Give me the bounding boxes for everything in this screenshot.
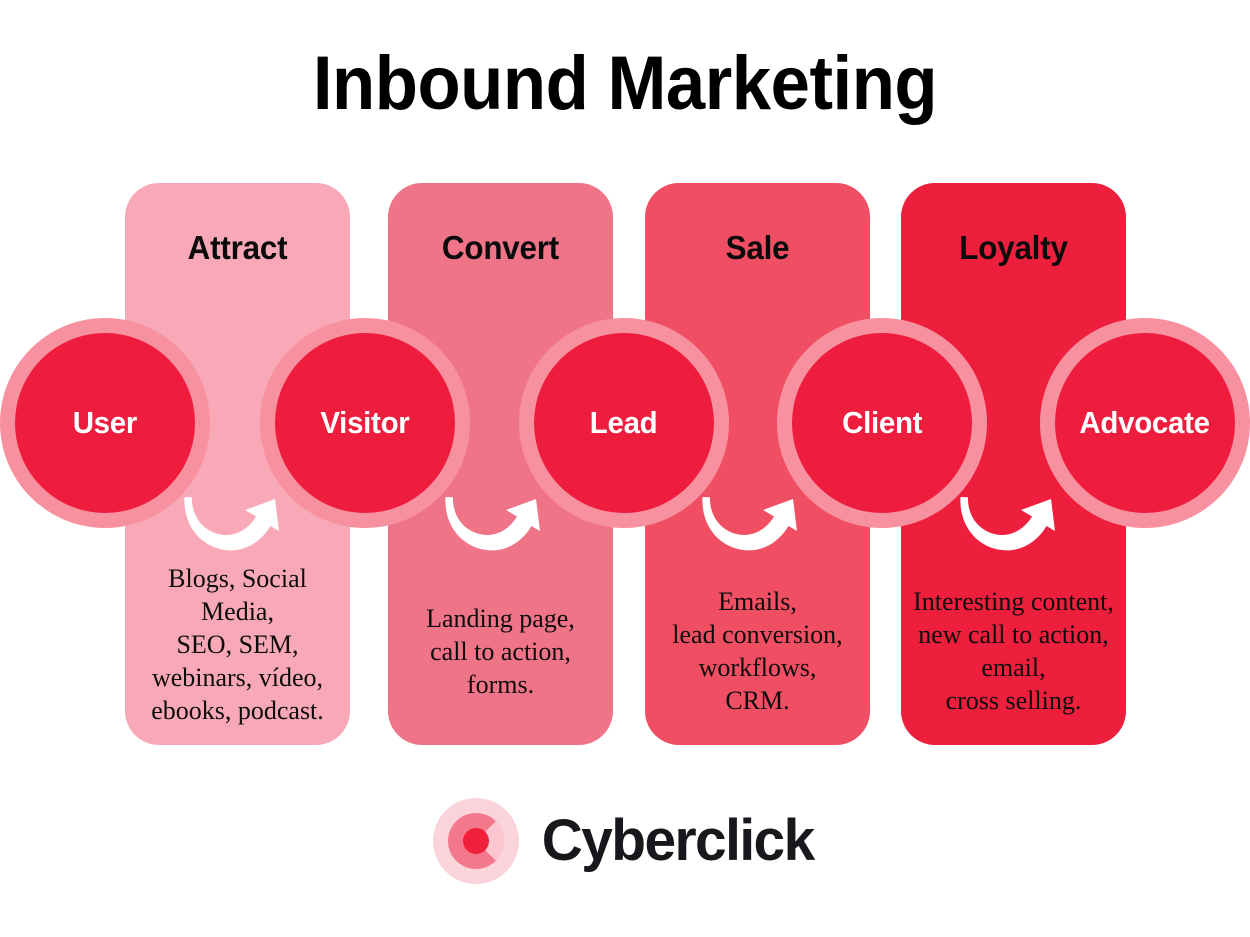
funnel-node-label: Lead xyxy=(590,405,658,441)
funnel-node-label: Advocate xyxy=(1080,405,1210,441)
inbound-marketing-infographic: Inbound Marketing Attract Blogs, Social … xyxy=(0,0,1250,937)
cyberclick-target-icon xyxy=(433,798,519,884)
funnel-node-label: User xyxy=(73,405,137,441)
stage-body-attract: Blogs, Social Media, SEO, SEM, webinars,… xyxy=(117,562,358,727)
funnel-node-user: User xyxy=(0,318,210,528)
stage-heading-convert: Convert xyxy=(394,229,608,267)
funnel-node-core: Visitor xyxy=(275,333,455,513)
stage-heading-sale: Sale xyxy=(651,229,865,267)
stage-heading-attract: Attract xyxy=(131,229,345,267)
funnel-node-core: Advocate xyxy=(1055,333,1235,513)
funnel-node-label: Client xyxy=(842,405,922,441)
stage-body-sale: Emails, lead conversion, workflows, CRM. xyxy=(637,585,878,717)
brand-name: Cyberclick xyxy=(542,812,814,870)
stage-body-loyalty: Interesting content, new call to action,… xyxy=(893,585,1134,717)
funnel-node-core: Lead xyxy=(534,333,714,513)
funnel-node-advocate: Advocate xyxy=(1040,318,1250,528)
brand-logo: Cyberclick xyxy=(0,798,1250,884)
funnel-stage-area: Attract Blogs, Social Media, SEO, SEM, w… xyxy=(0,0,1250,790)
funnel-node-client: Client xyxy=(777,318,987,528)
funnel-node-visitor: Visitor xyxy=(260,318,470,528)
funnel-node-label: Visitor xyxy=(320,405,409,441)
funnel-node-core: User xyxy=(15,333,195,513)
funnel-node-core: Client xyxy=(792,333,972,513)
stage-heading-loyalty: Loyalty xyxy=(907,229,1121,267)
funnel-node-lead: Lead xyxy=(519,318,729,528)
stage-body-convert: Landing page, call to action, forms. xyxy=(380,602,621,701)
